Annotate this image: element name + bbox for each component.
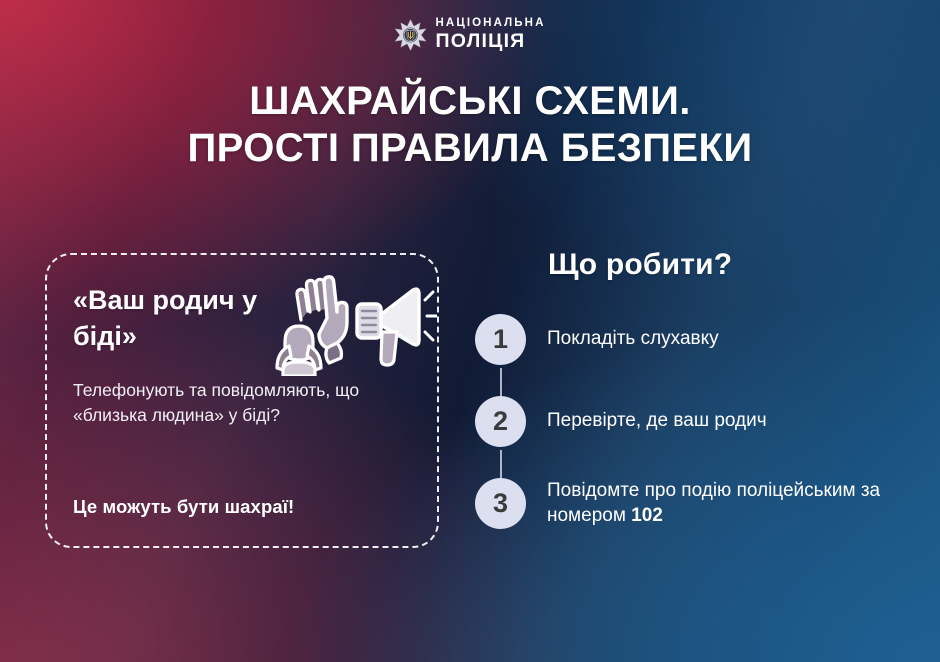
- logo-line-police: ПОЛІЦІЯ: [436, 32, 546, 52]
- step-text-main: Покладіть слухавку: [547, 328, 719, 349]
- logo-wordmark: НАЦІОНАЛЬНА ПОЛІЦІЯ: [436, 18, 546, 51]
- step-text-main: Повідомте про подію поліцейським за номе…: [547, 480, 880, 526]
- step-text-main: Перевірте, де ваш родич: [547, 410, 767, 431]
- what-to-do-section: Що робити? 1 Покладіть слухавку 2 Переві…: [466, 248, 926, 532]
- logo-line-national: НАЦІОНАЛЬНА: [436, 18, 546, 30]
- step-text: Покладіть слухавку: [547, 326, 719, 351]
- step-text-bold: 102: [631, 505, 663, 526]
- step-text: Повідомте про подію поліцейським за номе…: [547, 478, 926, 529]
- step-text: Перевірте, де ваш родич: [547, 408, 767, 433]
- list-item: 1 Покладіть слухавку: [466, 310, 926, 368]
- step-number-badge: 3: [475, 478, 526, 529]
- list-item: 3 Повідомте про подію поліцейським за но…: [466, 474, 926, 532]
- page-title-line-2: ПРОСТІ ПРАВИЛА БЕЗПЕКИ: [0, 125, 940, 172]
- page-title: ШАХРАЙСЬКІ СХЕМИ. ПРОСТІ ПРАВИЛА БЕЗПЕКИ: [0, 78, 940, 172]
- infographic-poster: НАЦІОНАЛЬНА ПОЛІЦІЯ ШАХРАЙСЬКІ СХЕМИ. ПР…: [0, 0, 940, 662]
- police-star-badge-icon: [395, 19, 427, 51]
- police-logo: НАЦІОНАЛЬНА ПОЛІЦІЯ: [395, 18, 546, 51]
- list-item: 2 Перевірте, де ваш родич: [466, 392, 926, 450]
- scam-scheme-card: «Ваш родич у біді» Телефонують та повідо…: [45, 253, 439, 548]
- scheme-card-body: Телефонують та повідомляють, що «близька…: [73, 378, 391, 428]
- step-number-badge: 2: [475, 396, 526, 447]
- steps-heading: Що робити?: [548, 248, 926, 282]
- page-title-line-1: ШАХРАЙСЬКІ СХЕМИ.: [0, 78, 940, 125]
- steps-list: 1 Покладіть слухавку 2 Перевірте, де ваш…: [466, 310, 926, 532]
- scheme-card-warning: Це можуть бути шахраї!: [73, 496, 294, 518]
- step-number-badge: 1: [475, 314, 526, 365]
- scheme-card-title: «Ваш родич у біді»: [73, 282, 308, 354]
